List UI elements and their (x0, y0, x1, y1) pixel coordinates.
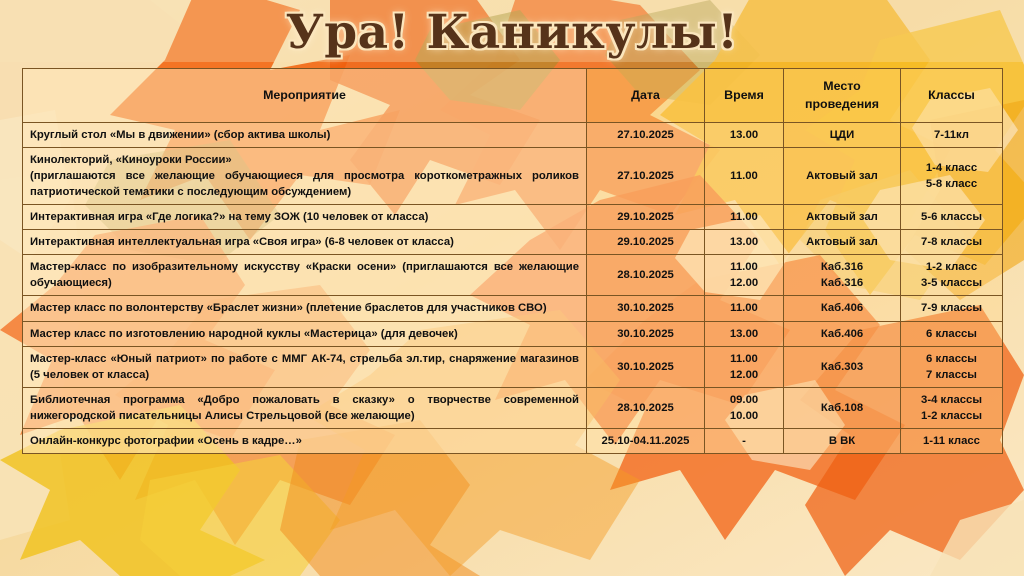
time-cell-line: 11.00 (712, 259, 776, 275)
time-cell-line: 09.00 (712, 392, 776, 408)
classes-cell-line: 7-8 классы (908, 234, 995, 250)
table-row: Кинолекторий, «Киноуроки России»(приглаш… (23, 148, 1003, 205)
classes-cell-line: 1-4 класс (908, 160, 995, 176)
place-cell: Актовый зал (784, 230, 901, 255)
place-cell-line: В ВК (791, 433, 893, 449)
place-cell: В ВК (784, 428, 901, 453)
classes-cell-line: 1-11 класс (908, 433, 995, 449)
time-cell-line: 11.00 (712, 300, 776, 316)
time-cell-line: 12.00 (712, 275, 776, 291)
time-cell: 11.0012.00 (705, 346, 784, 387)
place-cell-line: Каб.406 (791, 326, 893, 342)
column-header-place: Место проведения (784, 69, 901, 123)
classes-cell-line: 5-8 класс (908, 176, 995, 192)
event-title-line: Кинолекторий, «Киноуроки России» (30, 152, 579, 168)
date-cell: 29.10.2025 (587, 230, 705, 255)
classes-cell-line: 7 классы (908, 367, 995, 383)
event-cell: Интерактивная игра «Где логика?» на тему… (23, 205, 587, 230)
time-cell-line: 11.00 (712, 351, 776, 367)
date-cell: 27.10.2025 (587, 148, 705, 205)
time-cell-line: 13.00 (712, 326, 776, 342)
schedule-table-container: Мероприятие Дата Время Место проведения … (22, 68, 1002, 454)
place-cell-line: Актовый зал (791, 168, 893, 184)
schedule-table-body: Круглый стол «Мы в движении» (сбор актив… (23, 123, 1003, 453)
table-row: Мастер-класс «Юный патриот» по работе с … (23, 346, 1003, 387)
place-cell: Каб.108 (784, 387, 901, 428)
time-cell: 09.0010.00 (705, 387, 784, 428)
time-cell-line: 13.00 (712, 127, 776, 143)
event-cell: Мастер класс по волонтерству «Браслет жи… (23, 296, 587, 321)
event-cell: Мастер класс по изготовлению народной ку… (23, 321, 587, 346)
column-header-time: Время (705, 69, 784, 123)
table-header-row: Мероприятие Дата Время Место проведения … (23, 69, 1003, 123)
time-cell-line: 11.00 (712, 168, 776, 184)
place-cell: Актовый зал (784, 148, 901, 205)
classes-cell: 7-9 классы (901, 296, 1003, 321)
schedule-table: Мероприятие Дата Время Место проведения … (22, 68, 1003, 454)
classes-cell-line: 7-9 классы (908, 300, 995, 316)
time-cell-line: - (712, 433, 776, 449)
place-cell-line: Актовый зал (791, 234, 893, 250)
classes-cell: 6 классы7 классы (901, 346, 1003, 387)
date-cell: 28.10.2025 (587, 387, 705, 428)
place-cell: ЦДИ (784, 123, 901, 148)
time-cell-line: 10.00 (712, 408, 776, 424)
poster-title-area: Ура! Каникулы! (0, 0, 1024, 64)
table-row: Интерактивная интеллектуальная игра «Сво… (23, 230, 1003, 255)
place-cell: Каб.316Каб.316 (784, 255, 901, 296)
place-header-line2: проведения (805, 97, 879, 111)
column-header-event: Мероприятие (23, 69, 587, 123)
date-cell: 27.10.2025 (587, 123, 705, 148)
event-cell: Библиотечная программа «Добро пожаловать… (23, 387, 587, 428)
event-cell: Интерактивная интеллектуальная игра «Сво… (23, 230, 587, 255)
classes-cell-line: 7-11кл (908, 127, 995, 143)
classes-cell: 7-8 классы (901, 230, 1003, 255)
place-cell-line: Каб.316 (791, 275, 893, 291)
classes-cell-line: 5-6 классы (908, 209, 995, 225)
place-cell-line: Каб.316 (791, 259, 893, 275)
table-row: Онлайн-конкурс фотографии «Осень в кадре… (23, 428, 1003, 453)
classes-cell: 5-6 классы (901, 205, 1003, 230)
place-cell-line: Каб.108 (791, 400, 893, 416)
time-cell-line: 12.00 (712, 367, 776, 383)
event-cell: Мастер-класс «Юный патриот» по работе с … (23, 346, 587, 387)
event-cell: Онлайн-конкурс фотографии «Осень в кадре… (23, 428, 587, 453)
table-row: Мастер-класс по изобразительному искусст… (23, 255, 1003, 296)
table-row: Библиотечная программа «Добро пожаловать… (23, 387, 1003, 428)
place-cell-line: Каб.303 (791, 359, 893, 375)
classes-cell-line: 6 классы (908, 326, 995, 342)
event-detail-line: (приглашаются все желающие обучающиеся д… (30, 170, 579, 198)
time-cell: 11.00 (705, 296, 784, 321)
time-cell-line: 13.00 (712, 234, 776, 250)
time-cell: - (705, 428, 784, 453)
date-cell: 29.10.2025 (587, 205, 705, 230)
classes-cell-line: 3-4 классы (908, 392, 995, 408)
column-header-date: Дата (587, 69, 705, 123)
place-cell: Актовый зал (784, 205, 901, 230)
classes-cell: 1-4 класс5-8 класс (901, 148, 1003, 205)
classes-cell: 1-11 класс (901, 428, 1003, 453)
event-cell: Кинолекторий, «Киноуроки России»(приглаш… (23, 148, 587, 205)
table-row: Интерактивная игра «Где логика?» на тему… (23, 205, 1003, 230)
classes-cell: 1-2 класс3-5 классы (901, 255, 1003, 296)
column-header-classes: Классы (901, 69, 1003, 123)
date-cell: 28.10.2025 (587, 255, 705, 296)
classes-cell-line: 3-5 классы (908, 275, 995, 291)
classes-cell: 7-11кл (901, 123, 1003, 148)
place-cell-line: Каб.406 (791, 300, 893, 316)
event-cell: Круглый стол «Мы в движении» (сбор актив… (23, 123, 587, 148)
date-cell: 25.10-04.11.2025 (587, 428, 705, 453)
time-cell: 11.00 (705, 205, 784, 230)
time-cell: 11.00 (705, 148, 784, 205)
time-cell-line: 11.00 (712, 209, 776, 225)
classes-cell-line: 6 классы (908, 351, 995, 367)
time-cell: 13.00 (705, 321, 784, 346)
date-cell: 30.10.2025 (587, 296, 705, 321)
time-cell: 11.0012.00 (705, 255, 784, 296)
event-cell: Мастер-класс по изобразительному искусст… (23, 255, 587, 296)
time-cell: 13.00 (705, 123, 784, 148)
classes-cell: 3-4 классы1-2 классы (901, 387, 1003, 428)
place-cell: Каб.406 (784, 321, 901, 346)
table-row: Круглый стол «Мы в движении» (сбор актив… (23, 123, 1003, 148)
classes-cell-line: 1-2 класс (908, 259, 995, 275)
time-cell: 13.00 (705, 230, 784, 255)
place-cell-line: ЦДИ (791, 127, 893, 143)
place-cell-line: Актовый зал (791, 209, 893, 225)
date-cell: 30.10.2025 (587, 346, 705, 387)
table-row: Мастер класс по волонтерству «Браслет жи… (23, 296, 1003, 321)
place-header-line1: Место (823, 79, 860, 93)
classes-cell: 6 классы (901, 321, 1003, 346)
classes-cell-line: 1-2 классы (908, 408, 995, 424)
date-cell: 30.10.2025 (587, 321, 705, 346)
page-title: Ура! Каникулы! (286, 5, 739, 60)
place-cell: Каб.303 (784, 346, 901, 387)
place-cell: Каб.406 (784, 296, 901, 321)
table-row: Мастер класс по изготовлению народной ку… (23, 321, 1003, 346)
